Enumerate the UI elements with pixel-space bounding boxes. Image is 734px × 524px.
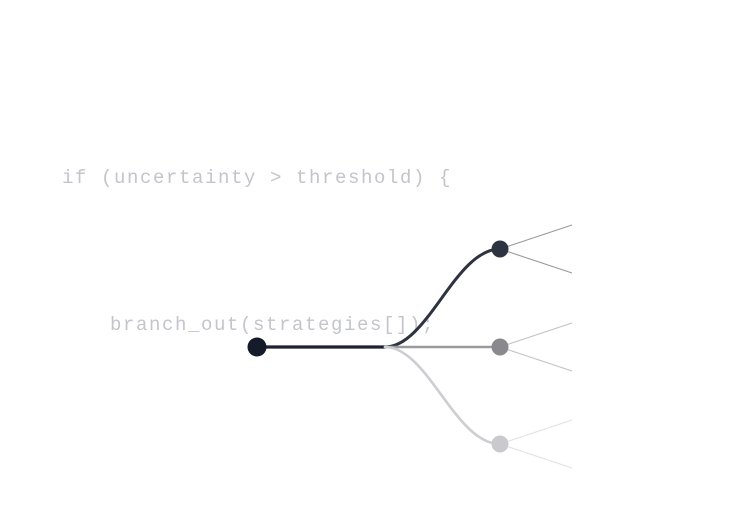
illustration-canvas: if (uncertainty > threshold) { branch_ou… bbox=[0, 0, 734, 524]
leaf-line-middle-upper bbox=[500, 323, 572, 347]
node-root bbox=[248, 338, 267, 357]
leaf-line-bottom-lower bbox=[500, 444, 572, 468]
leaf-line-middle-lower bbox=[500, 347, 572, 371]
leaf-line-top-upper bbox=[500, 225, 572, 249]
leaf-line-top-lower bbox=[500, 249, 572, 273]
leaf-line-bottom-upper bbox=[500, 420, 572, 444]
branch-bottom-curve bbox=[385, 347, 500, 444]
branch-top-curve bbox=[385, 249, 500, 347]
node-branch-top bbox=[492, 241, 509, 258]
branching-tree-diagram bbox=[0, 0, 734, 524]
node-branch-bottom bbox=[492, 436, 509, 453]
node-branch-middle bbox=[492, 339, 509, 356]
